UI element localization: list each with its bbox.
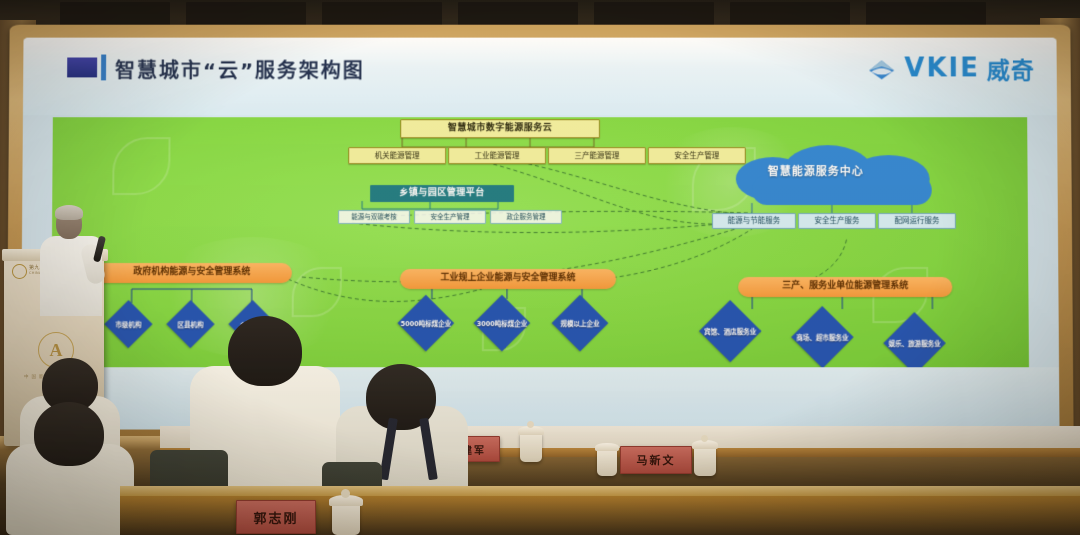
node-platform-child-0[interactable]: 能源与双碳考核 [338, 210, 410, 224]
node-industrial-energy-management[interactable]: 工业能源管理 [448, 147, 546, 164]
node-smart-energy-service-center[interactable]: 智慧能源服务中心 [768, 163, 864, 179]
node-gov-child-1[interactable]: 区县机构 [169, 319, 211, 329]
conference-room-photo: 智慧城市“云”服务架构图 VKIE 威奇 [0, 0, 1080, 535]
node-system-government[interactable]: 政府机构能源与安全管理系统 [92, 263, 292, 283]
node-agency-energy-management[interactable]: 机关能源管理 [348, 147, 446, 164]
name-card: 马新文 [620, 446, 692, 474]
cloud-logo-icon [866, 56, 897, 82]
led-screen-frame: 智慧城市“云”服务架构图 VKIE 威奇 [6, 25, 1073, 445]
slide-body: 智慧城市数字能源服务云 机关能源管理 工业能源管理 三产能源管理 安全生产管理 [20, 95, 1059, 429]
brand-logo: VKIE 威奇 [866, 52, 1035, 86]
node-platform-child-2[interactable]: 政企服务管理 [490, 210, 562, 224]
page-title: 智慧城市“云”服务架构图 [115, 55, 365, 84]
tea-cup-knob [527, 421, 534, 428]
tea-cup-lid [595, 443, 619, 451]
tea-cup [694, 446, 716, 476]
node-tertiary-child-0[interactable]: 宾馆、酒店服务业 [690, 326, 770, 336]
speaker-hair [55, 205, 83, 220]
emblem-icon [12, 264, 27, 279]
architecture-diagram: 智慧城市数字能源服务云 机关能源管理 工业能源管理 三产能源管理 安全生产管理 [51, 117, 1029, 367]
node-safety-production-management[interactable]: 安全生产管理 [648, 147, 746, 164]
node-platform-child-1[interactable]: 安全生产管理 [414, 210, 486, 224]
tea-cup [520, 432, 542, 462]
node-industry-child-1[interactable]: 3000吨标煤企业 [468, 318, 536, 328]
logo-text: VKIE [904, 56, 980, 82]
title-accent-bar [101, 55, 106, 81]
slide-footer-area [20, 367, 1059, 429]
node-township-park-platform[interactable]: 乡镇与园区管理平台 [370, 185, 514, 202]
node-tertiary-child-1[interactable]: 商场、超市服务业 [782, 332, 862, 342]
cloud-shape [752, 175, 932, 205]
node-industry-child-2[interactable]: 规模以上企业 [548, 318, 612, 328]
name-card: 郭志刚 [236, 500, 316, 534]
node-gov-child-0[interactable]: 市级机构 [107, 319, 149, 329]
node-service-center-child-0[interactable]: 能源与节能服务 [712, 213, 796, 229]
logo-text-cn: 威奇 [987, 52, 1035, 86]
node-industry-child-0[interactable]: 5000吨标煤企业 [392, 318, 460, 328]
leaf-decoration-icon [112, 137, 170, 195]
node-service-center-child-1[interactable]: 安全生产服务 [798, 213, 876, 229]
node-service-center-child-2[interactable]: 配网运行服务 [878, 213, 956, 229]
tea-cup-knob [701, 435, 708, 442]
conference-table-near-edge [120, 486, 1080, 496]
title-accent-block [67, 58, 97, 78]
tea-cup [332, 502, 360, 535]
tea-cup-knob [341, 489, 350, 498]
tea-cup [597, 448, 617, 476]
node-system-industry[interactable]: 工业规上企业能源与安全管理系统 [400, 269, 616, 289]
node-smart-city-energy-cloud[interactable]: 智慧城市数字能源服务云 [400, 119, 600, 138]
node-tertiary-child-2[interactable]: 娱乐、旅游服务业 [875, 338, 955, 348]
node-system-tertiary[interactable]: 三产、服务业单位能源管理系统 [738, 277, 952, 297]
node-tertiary-energy-management[interactable]: 三产能源管理 [548, 147, 646, 164]
presentation-screen: 智慧城市“云”服务架构图 VKIE 威奇 [20, 38, 1059, 430]
